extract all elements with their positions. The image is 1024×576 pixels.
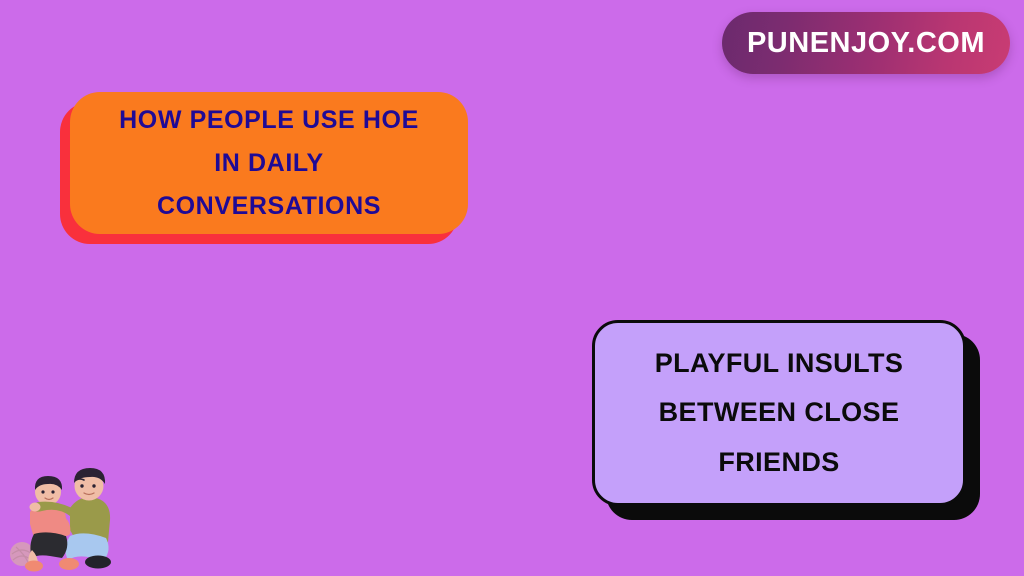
subtitle-line-1: PLAYFUL INSULTS: [655, 339, 904, 388]
subtitle-line-3: FRIENDS: [718, 438, 839, 487]
brand-name-text: PUNENJOY.COM: [747, 27, 985, 60]
title-card-body: HOW PEOPLE USE HOE IN DAILY CONVERSATION…: [70, 92, 468, 234]
subtitle-line-2: BETWEEN CLOSE: [659, 388, 900, 437]
subtitle-card: PLAYFUL INSULTS BETWEEN CLOSE FRIENDS: [592, 320, 982, 520]
brand-badge[interactable]: PUNENJOY.COM: [722, 12, 1010, 74]
two-friends-sitting-illustration: [8, 450, 128, 572]
subtitle-card-body: PLAYFUL INSULTS BETWEEN CLOSE FRIENDS: [592, 320, 966, 506]
title-card: HOW PEOPLE USE HOE IN DAILY CONVERSATION…: [60, 92, 470, 244]
title-line-1: HOW PEOPLE USE HOE: [119, 99, 419, 142]
poster-canvas: PUNENJOY.COM HOW PEOPLE USE HOE IN DAILY…: [0, 0, 1024, 576]
title-line-2: IN DAILY: [214, 142, 323, 185]
title-line-3: CONVERSATIONS: [157, 185, 381, 228]
